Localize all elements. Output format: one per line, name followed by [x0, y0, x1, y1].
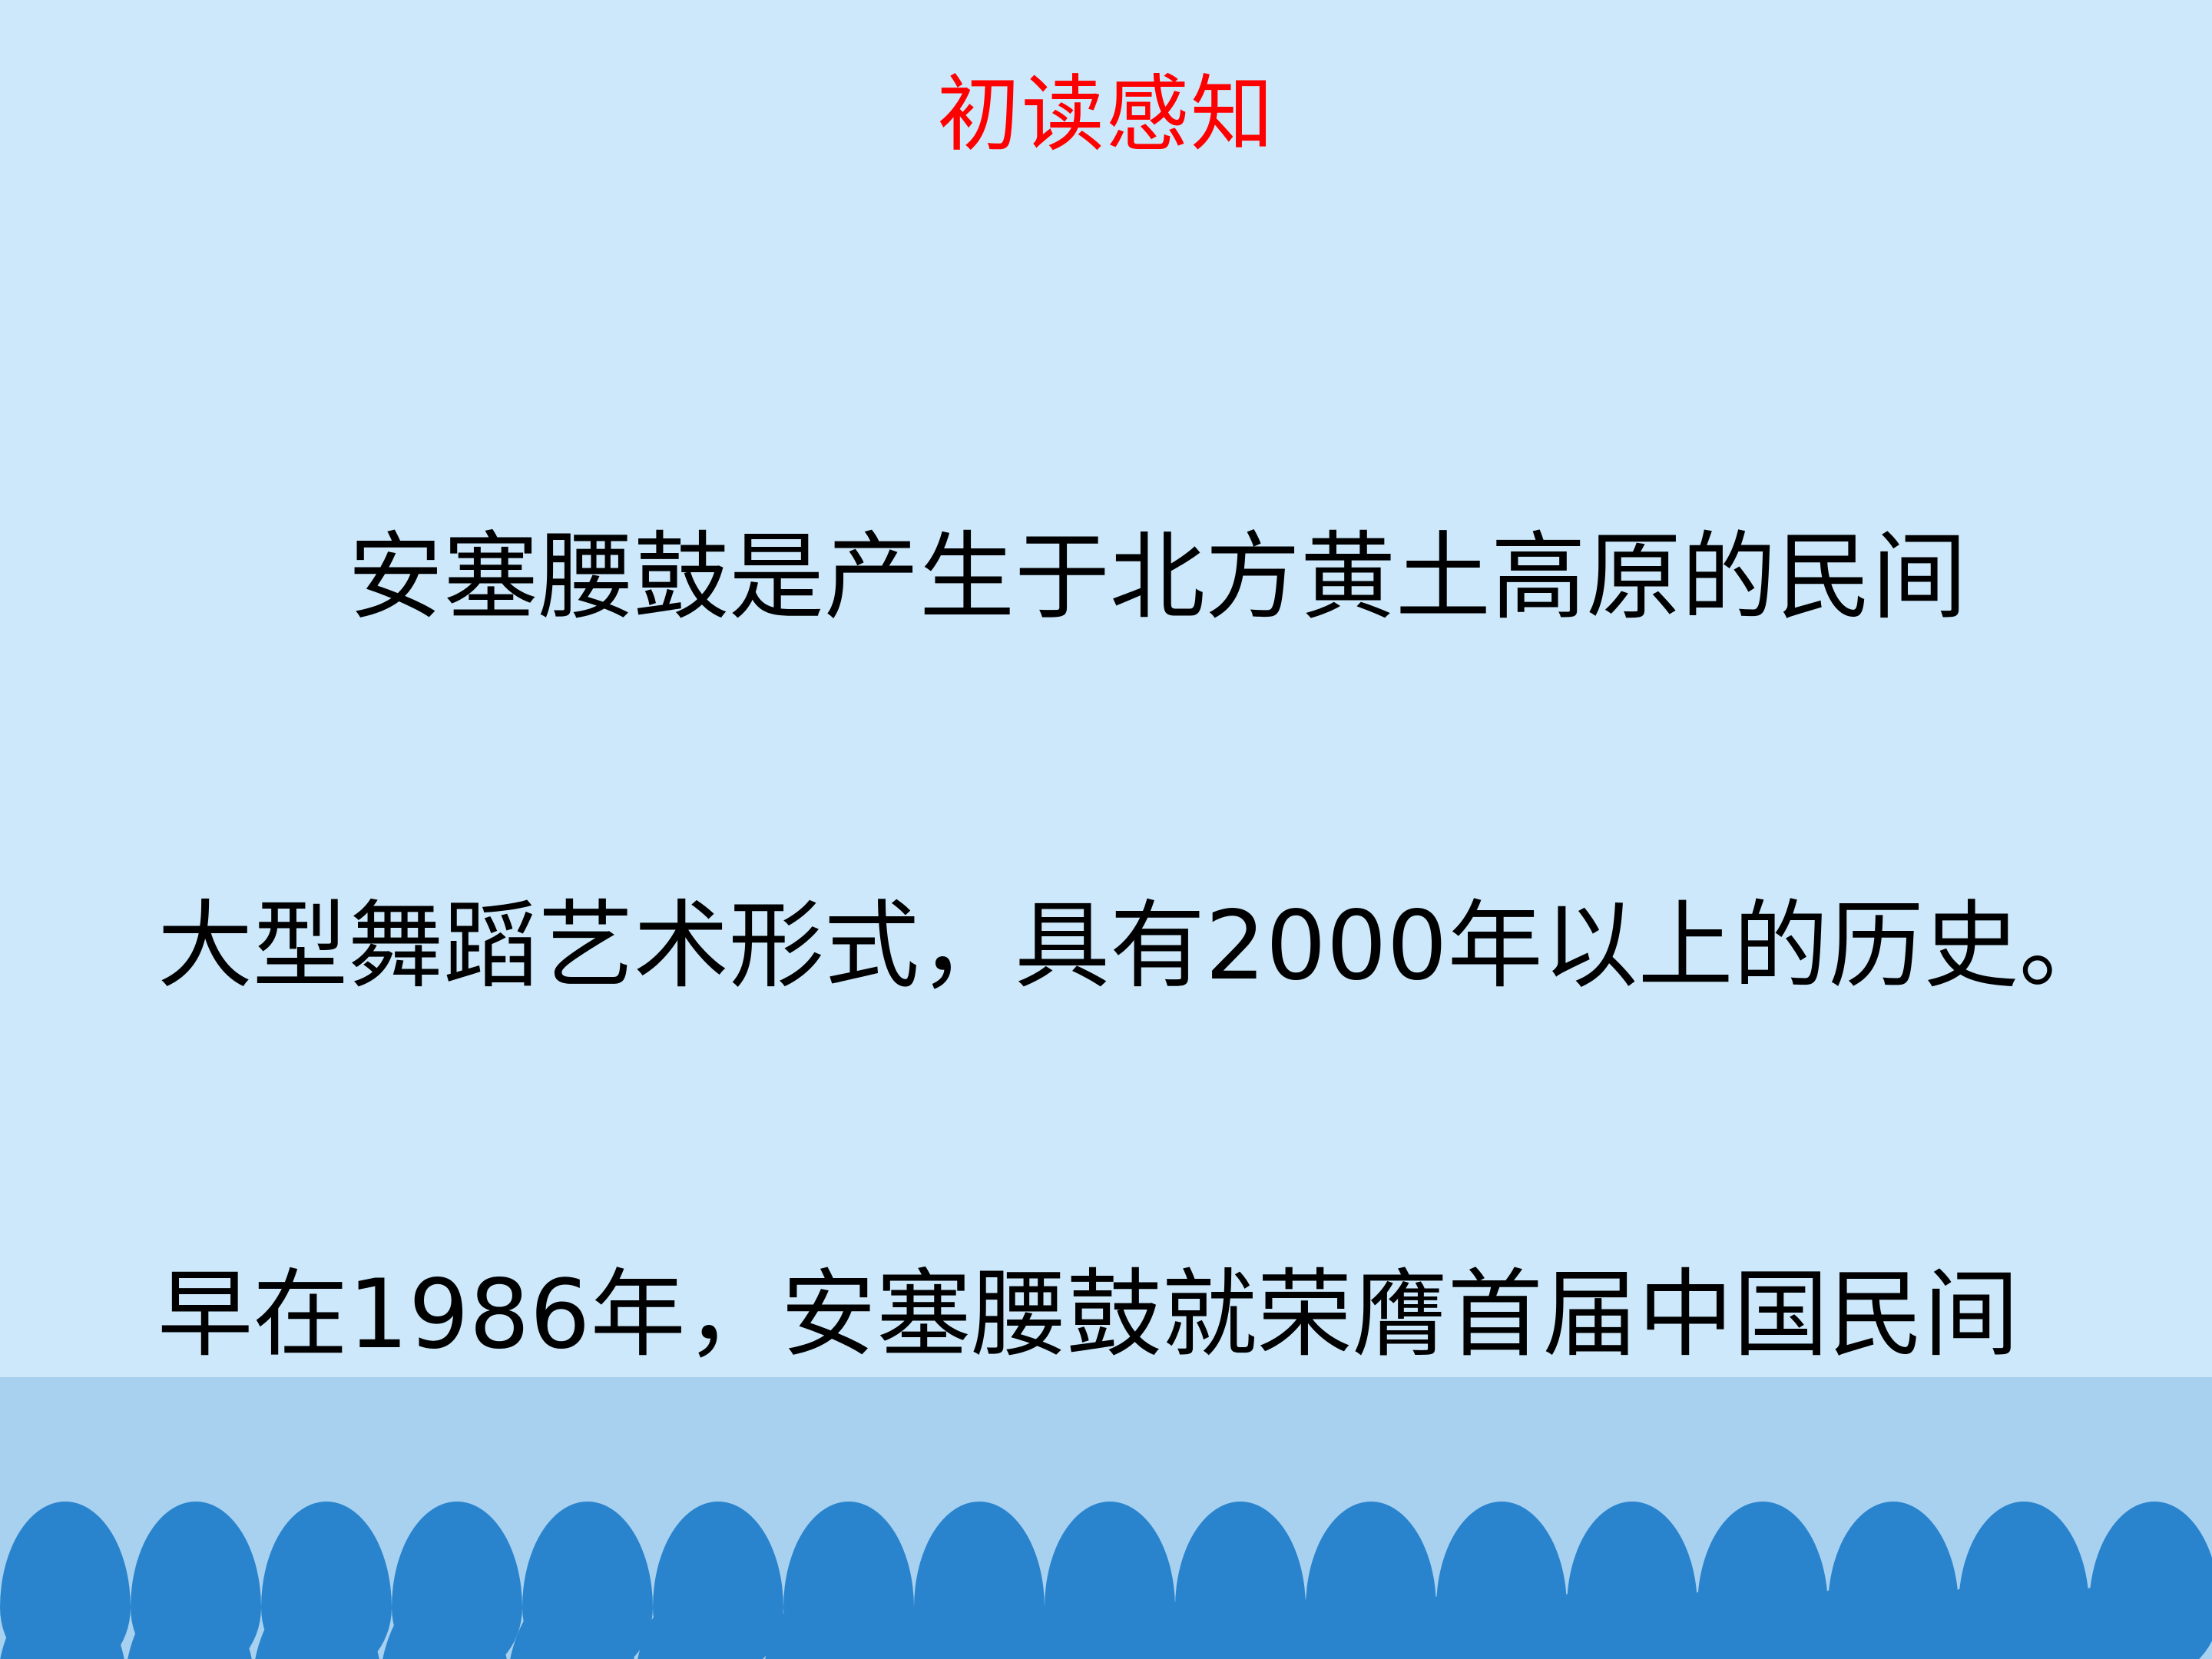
decoration-dot — [1144, 1586, 1275, 1659]
decoration-dot — [379, 1586, 510, 1659]
body-line: 大型舞蹈艺术形式，具有2000年以上的历史。 — [157, 885, 2124, 1008]
footer-decoration-band — [0, 1377, 2212, 1659]
slide-canvas: 初读感知 安塞腰鼓是产生于北方黄土高原的民间 大型舞蹈艺术形式，具有2000年以… — [0, 0, 2212, 1659]
decoration-dot-row-bottom — [0, 1586, 2212, 1659]
decoration-dot — [252, 1586, 382, 1659]
decoration-dot — [1017, 1586, 1147, 1659]
decoration-dot — [1527, 1586, 1657, 1659]
decoration-dot — [1654, 1586, 1785, 1659]
decoration-dot — [762, 1586, 892, 1659]
decoration-dot — [124, 1586, 255, 1659]
decoration-dot — [507, 1586, 637, 1659]
page-title: 初读感知 — [0, 68, 2212, 163]
decoration-dot — [1399, 1586, 1530, 1659]
decoration-dot — [0, 1586, 127, 1659]
body-line: 安塞腰鼓是产生于北方黄土高原的民间 — [157, 516, 2124, 639]
decoration-dot — [1272, 1586, 1402, 1659]
decoration-dot — [1909, 1586, 2040, 1659]
body-line: 早在1986年，安塞腰鼓就荣膺首届中国民间 — [157, 1253, 2124, 1376]
decoration-dot — [634, 1586, 765, 1659]
decoration-dot — [889, 1586, 1020, 1659]
decoration-dot — [1782, 1586, 1912, 1659]
decoration-dot — [2037, 1586, 2167, 1659]
